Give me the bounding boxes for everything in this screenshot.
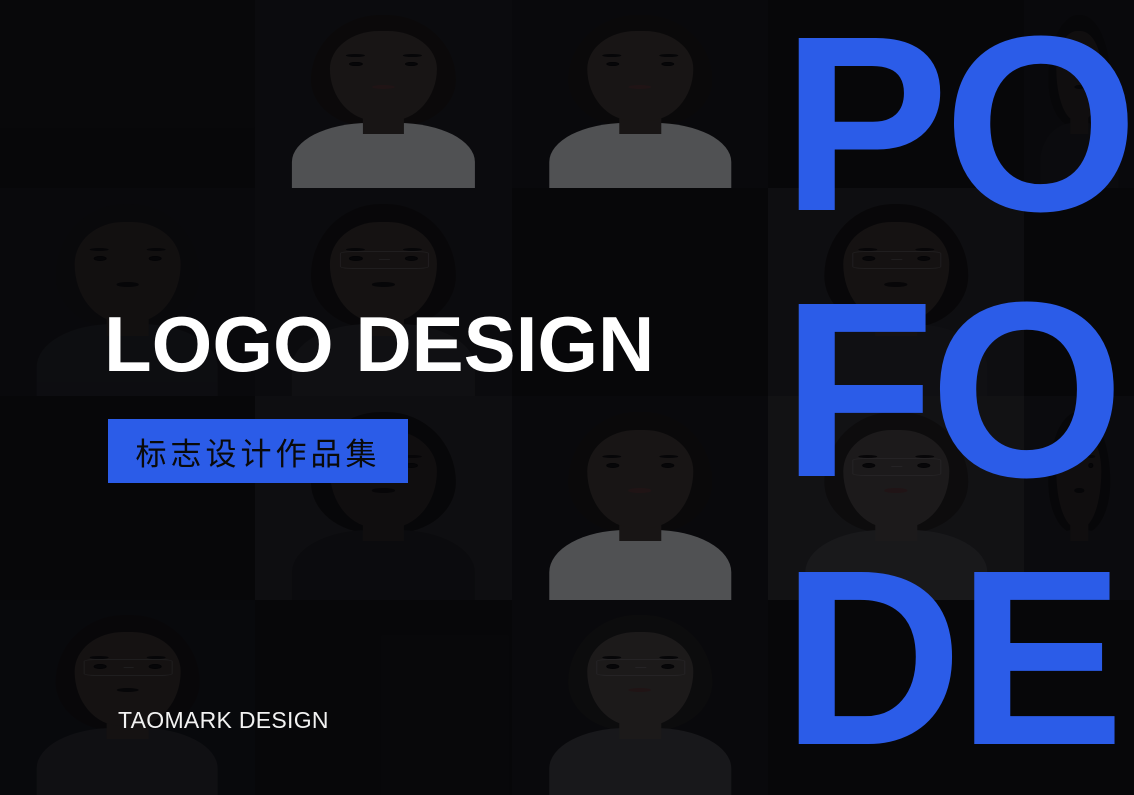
side-letters-row-3: DE xyxy=(782,560,1119,755)
poster-canvas: PO FO DE LOGO DESIGN 标志设计作品集 TAOMARK DES… xyxy=(0,0,1134,795)
page-title: LOGO DESIGN xyxy=(104,305,654,383)
subtitle-badge: 标志设计作品集 xyxy=(108,419,408,483)
subtitle-label: 标志设计作品集 xyxy=(136,429,381,474)
side-letters-row-2: FO xyxy=(782,292,1119,487)
side-letters-row-1: PO xyxy=(782,26,1133,221)
brand-label: TAOMARK DESIGN xyxy=(118,707,329,734)
